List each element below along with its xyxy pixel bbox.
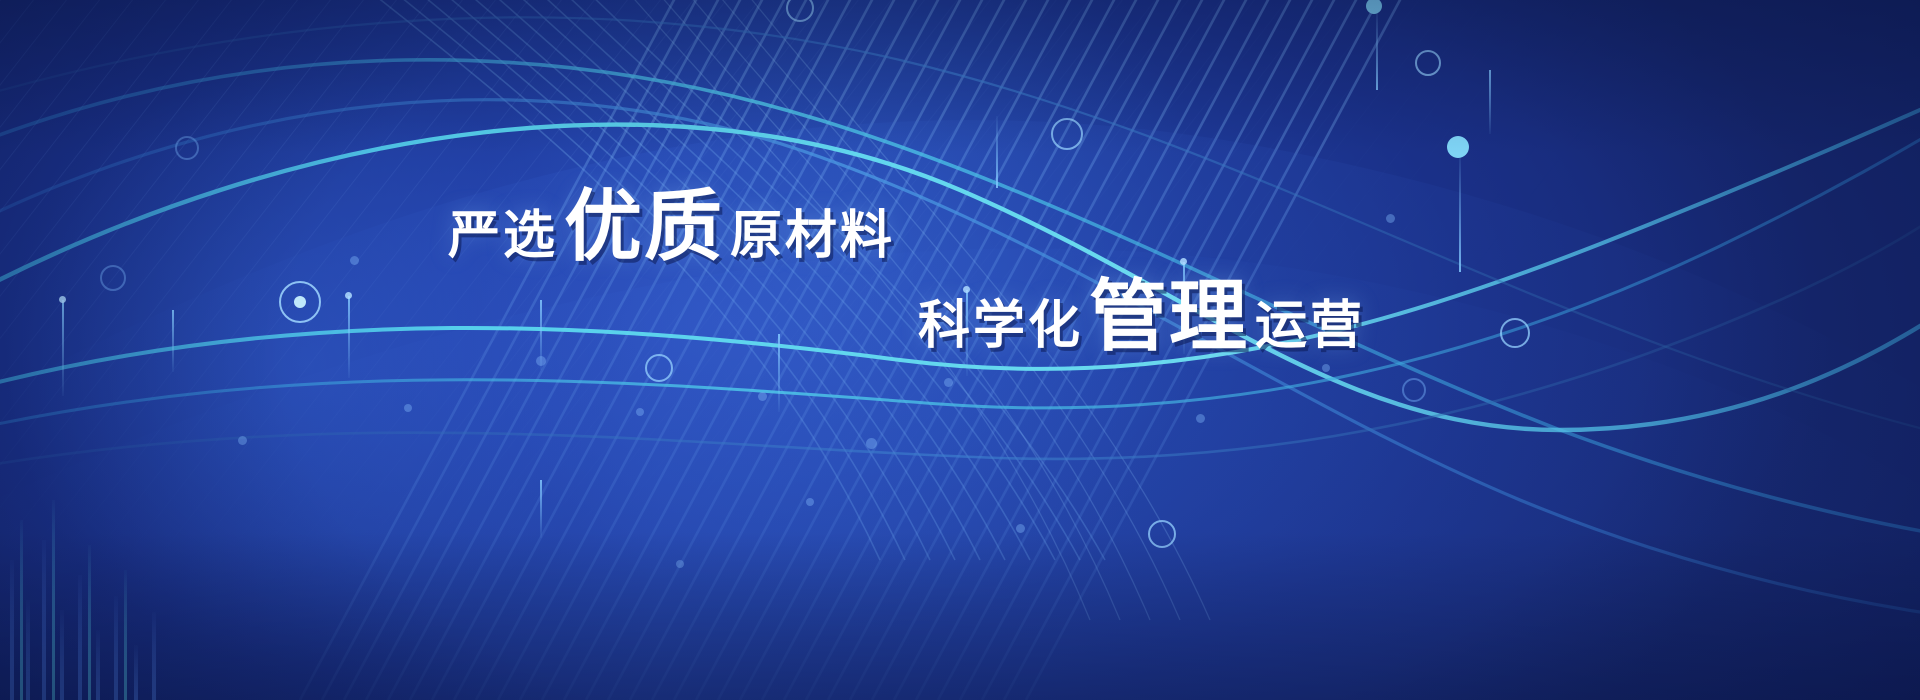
headline-line1-prefix: 严选 — [448, 210, 558, 262]
headline-line1-suffix: 原材料 — [730, 210, 895, 262]
banner-root: 严选 优质 原材料 科学化 管理 运营 — [0, 0, 1920, 700]
headline-block: 严选 优质 原材料 科学化 管理 运营 — [0, 0, 1920, 700]
headline-line2-emphasis: 管理 — [1089, 278, 1249, 356]
headline-line-2: 科学化 管理 运营 — [918, 278, 1365, 356]
headline-line1-emphasis: 优质 — [564, 188, 724, 266]
headline-line2-prefix: 科学化 — [918, 300, 1083, 352]
headline-line-1: 严选 优质 原材料 — [448, 188, 895, 266]
headline-line2-suffix: 运营 — [1255, 300, 1365, 352]
